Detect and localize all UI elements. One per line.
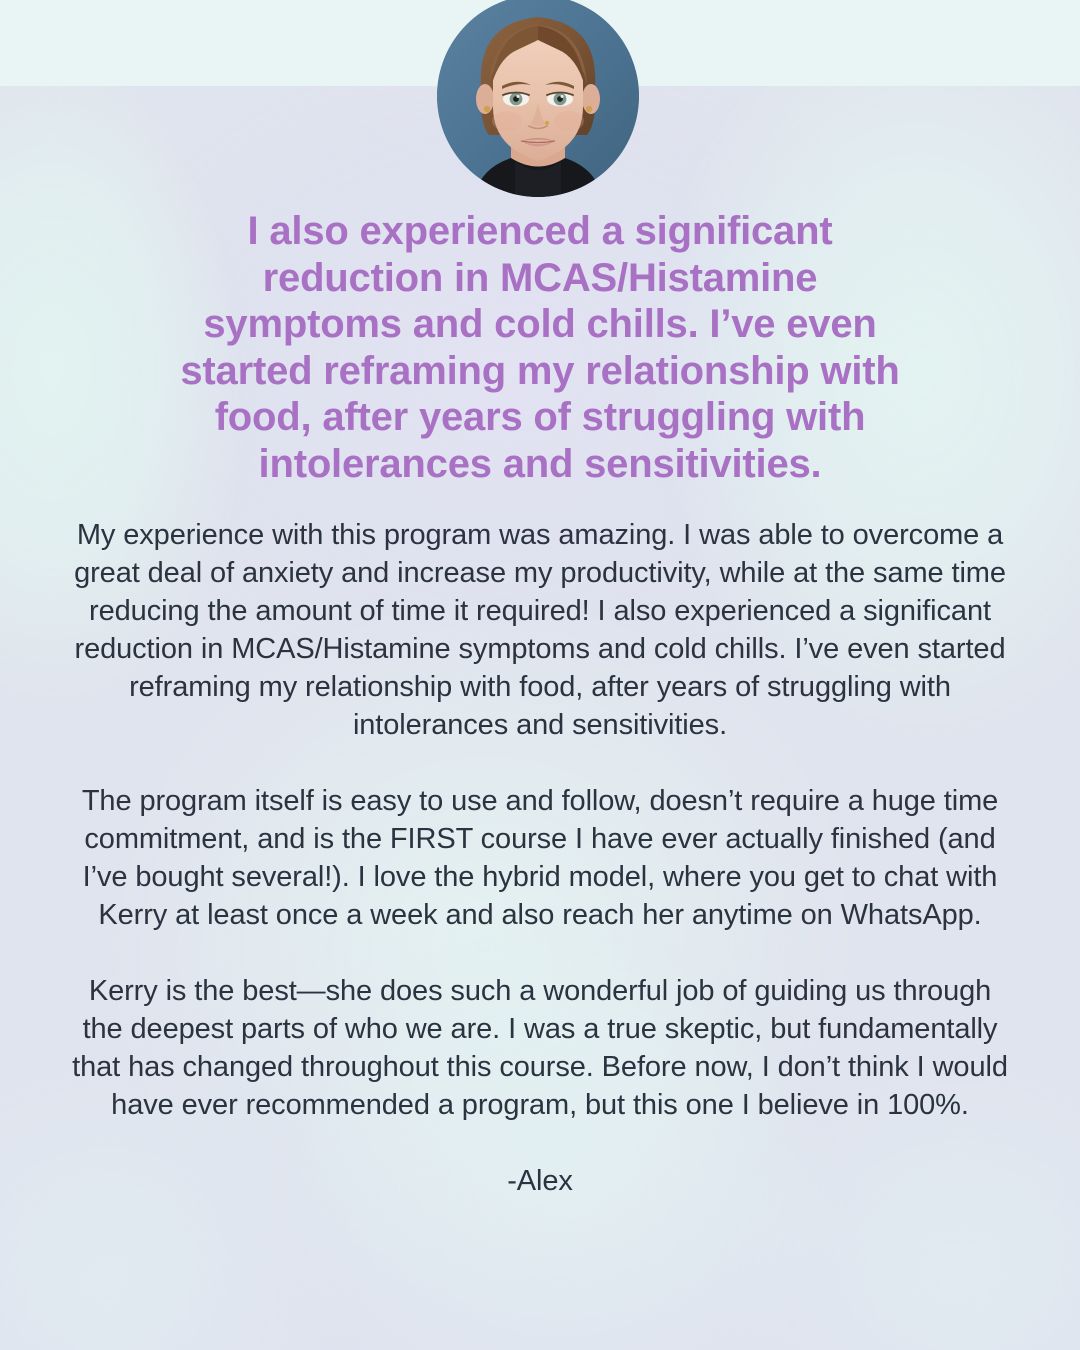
testimonial-body: My experience with this program was amaz… xyxy=(70,516,1010,1200)
testimonial-card: I also experienced a significant reducti… xyxy=(0,0,1080,1350)
testimonial-paragraph: Kerry is the best—she does such a wonder… xyxy=(70,972,1010,1124)
pull-quote-headline: I also experienced a significant reducti… xyxy=(180,208,900,487)
testimonial-paragraph: The program itself is easy to use and fo… xyxy=(70,782,1010,934)
card-content: I also experienced a significant reducti… xyxy=(0,0,1080,1350)
testimonial-signature: -Alex xyxy=(70,1162,1010,1200)
testimonial-paragraph: My experience with this program was amaz… xyxy=(70,516,1010,744)
